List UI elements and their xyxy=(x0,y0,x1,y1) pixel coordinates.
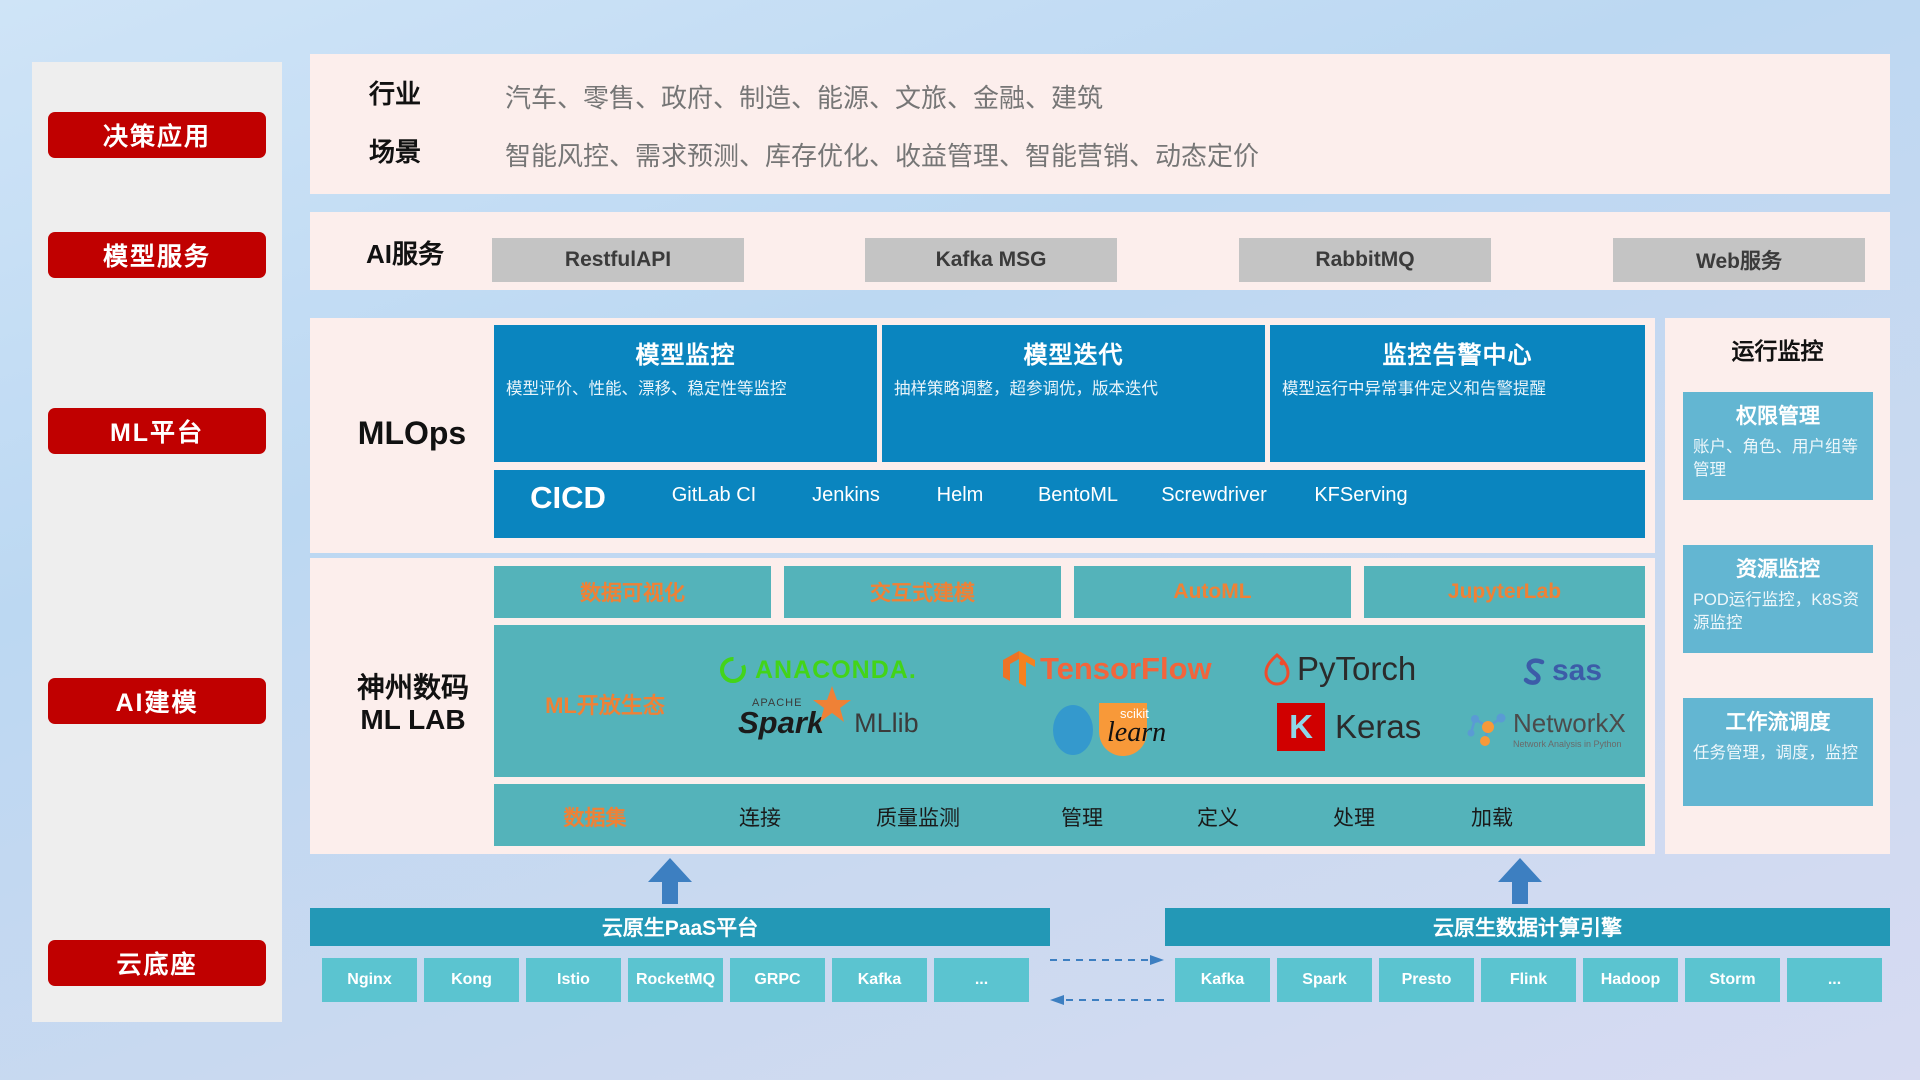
paas-chip-kafka[interactable]: Kafka xyxy=(832,958,927,1002)
bottom-dashed-connectors xyxy=(1050,950,1165,1010)
spark-apache-text: APACHE xyxy=(752,697,802,709)
industry-label: 行业 xyxy=(330,80,460,110)
paas-chip-more[interactable]: ... xyxy=(934,958,1029,1002)
industry-value: 汽车、零售、政府、制造、能源、文旅、金融、建筑 xyxy=(505,78,1103,115)
cicd-item-jenkins[interactable]: Jenkins xyxy=(801,484,891,507)
paas-chip-grpc[interactable]: GRPC xyxy=(730,958,825,1002)
sas-mark xyxy=(1518,655,1550,687)
ml-lab-label-line2: ML LAB xyxy=(360,704,465,735)
scenario-label: 场景 xyxy=(330,138,460,168)
sas-logo: sas xyxy=(1518,654,1602,688)
run-monitor-title: 运行监控 xyxy=(1665,332,1890,366)
anaconda-logo: ANACONDA. xyxy=(718,655,917,685)
engine-up-arrow-icon xyxy=(1490,858,1550,904)
tensorflow-logo: TensorFlow xyxy=(1002,650,1212,688)
stage-badge-cloud-base[interactable]: 云底座 xyxy=(48,940,266,986)
run-monitor-box-desc: 账户、角色、用户组等管理 xyxy=(1683,430,1873,482)
networkx-logo-subtext: Network Analysis in Python xyxy=(1513,739,1626,749)
run-monitor-box-resource[interactable]: 资源监控 POD运行监控，K8S资源监控 xyxy=(1683,545,1873,653)
mllib-logo-text: MLlib xyxy=(854,708,919,739)
pytorch-logo: PyTorch xyxy=(1262,650,1416,688)
scenario-value: 智能风控、需求预测、库存优化、收益管理、智能营销、动态定价 xyxy=(505,136,1259,173)
stage-badge-model-service[interactable]: 模型服务 xyxy=(48,232,266,278)
run-monitor-box-title: 工作流调度 xyxy=(1683,698,1873,736)
paas-chip-nginx[interactable]: Nginx xyxy=(322,958,417,1002)
ai-service-label: AI服务 xyxy=(330,240,480,270)
ml-ecosystem-label: ML开放生态 xyxy=(510,688,700,720)
mlops-card-title: 模型监控 xyxy=(494,325,877,370)
engine-chip-hadoop[interactable]: Hadoop xyxy=(1583,958,1678,1002)
keras-logo: K Keras xyxy=(1277,703,1421,751)
tensorflow-logo-text: TensorFlow xyxy=(1040,651,1212,687)
cicd-strip[interactable]: CICD GitLab CI Jenkins Helm BentoML Scre… xyxy=(494,470,1645,538)
mlops-card-title: 模型迭代 xyxy=(882,325,1265,370)
tab-interactive-modeling[interactable]: 交互式建模 xyxy=(784,566,1061,618)
ai-service-item-restfulapi[interactable]: RestfulAPI xyxy=(492,238,744,282)
ml-lab-label-line1: 神州数码 xyxy=(357,672,469,703)
spark-mllib-logo: APACHE Spark MLlib xyxy=(738,705,919,741)
stage-badge-decision-app[interactable]: 决策应用 xyxy=(48,112,266,158)
mlops-card-desc: 模型评价、性能、漂移、稳定性等监控 xyxy=(494,370,877,402)
run-monitor-box-workflow[interactable]: 工作流调度 任务管理，调度，监控 xyxy=(1683,698,1873,806)
tab-automl[interactable]: AutoML xyxy=(1074,566,1351,618)
mlops-card-desc: 抽样策略调整，超参调优，版本迭代 xyxy=(882,370,1265,402)
dataset-item-define[interactable]: 定义 xyxy=(1158,802,1278,832)
engine-chip-spark[interactable]: Spark xyxy=(1277,958,1372,1002)
paas-chip-kong[interactable]: Kong xyxy=(424,958,519,1002)
ai-service-item-kafka-msg[interactable]: Kafka MSG xyxy=(865,238,1117,282)
ai-service-item-rabbitmq[interactable]: RabbitMQ xyxy=(1239,238,1491,282)
engine-chip-kafka[interactable]: Kafka xyxy=(1175,958,1270,1002)
dataset-label: 数据集 xyxy=(510,802,680,832)
tab-label: JupyterLab xyxy=(1364,566,1645,618)
tab-jupyterlab[interactable]: JupyterLab xyxy=(1364,566,1645,618)
networkx-logo-text: NetworkX xyxy=(1513,708,1626,739)
cicd-title: CICD xyxy=(508,480,628,516)
cicd-item-gitlab-ci[interactable]: GitLab CI xyxy=(644,484,784,507)
engine-chip-storm[interactable]: Storm xyxy=(1685,958,1780,1002)
mlops-label: MLOps xyxy=(322,415,502,452)
sas-logo-text: sas xyxy=(1552,654,1602,688)
engine-bar[interactable]: 云原生数据计算引擎 xyxy=(1165,908,1890,946)
run-monitor-box-permission[interactable]: 权限管理 账户、角色、用户组等管理 xyxy=(1683,392,1873,500)
cicd-item-screwdriver[interactable]: Screwdriver xyxy=(1154,484,1274,507)
anaconda-mark xyxy=(718,655,748,685)
mlops-card-model-iteration[interactable]: 模型迭代 抽样策略调整，超参调优，版本迭代 xyxy=(882,325,1265,462)
anaconda-logo-text: ANACONDA. xyxy=(755,656,917,685)
pytorch-mark xyxy=(1262,652,1292,686)
stage-badge-ml-platform[interactable]: ML平台 xyxy=(48,408,266,454)
left-rail xyxy=(32,62,282,1022)
pytorch-logo-text: PyTorch xyxy=(1297,650,1416,688)
tab-label: 交互式建模 xyxy=(784,566,1061,618)
run-monitor-box-desc: POD运行监控，K8S资源监控 xyxy=(1683,583,1873,635)
paas-chip-rocketmq[interactable]: RocketMQ xyxy=(628,958,723,1002)
engine-chip-flink[interactable]: Flink xyxy=(1481,958,1576,1002)
keras-mark: K xyxy=(1277,703,1325,751)
engine-chip-more[interactable]: ... xyxy=(1787,958,1882,1002)
learn-word-text: learn xyxy=(1107,717,1166,749)
keras-mark-letter: K xyxy=(1289,708,1313,746)
cicd-item-bentoml[interactable]: BentoML xyxy=(1028,484,1128,507)
cicd-item-helm[interactable]: Helm xyxy=(915,484,1005,507)
spark-star-mark xyxy=(810,683,854,727)
mlops-card-alert-center[interactable]: 监控告警中心 模型运行中异常事件定义和告警提醒 xyxy=(1270,325,1645,462)
tab-label: AutoML xyxy=(1074,566,1351,618)
mlops-card-title: 监控告警中心 xyxy=(1270,325,1645,370)
dataset-item-manage[interactable]: 管理 xyxy=(1022,802,1142,832)
cicd-item-kfserving[interactable]: KFServing xyxy=(1306,484,1416,507)
dataset-item-load[interactable]: 加载 xyxy=(1432,802,1552,832)
keras-logo-text: Keras xyxy=(1335,708,1421,746)
stage-badge-ai-modeling[interactable]: AI建模 xyxy=(48,678,266,724)
tab-data-visualization[interactable]: 数据可视化 xyxy=(494,566,771,618)
ai-service-item-web-service[interactable]: Web服务 xyxy=(1613,238,1865,282)
dataset-item-connect[interactable]: 连接 xyxy=(700,802,820,832)
run-monitor-box-desc: 任务管理，调度，监控 xyxy=(1683,736,1873,765)
tensorflow-mark xyxy=(1002,650,1036,688)
scikit-learn-logo: scikit learn xyxy=(1047,700,1155,758)
industry-scenario-band xyxy=(310,54,1890,194)
mlops-card-model-monitoring[interactable]: 模型监控 模型评价、性能、漂移、稳定性等监控 xyxy=(494,325,877,462)
architecture-diagram: 决策应用 模型服务 ML平台 AI建模 云底座 行业 汽车、零售、政府、制造、能… xyxy=(0,0,1920,1080)
run-monitor-box-title: 资源监控 xyxy=(1683,545,1873,583)
networkx-mark xyxy=(1463,705,1509,751)
networkx-logo: NetworkX Network Analysis in Python xyxy=(1463,705,1626,751)
paas-bar[interactable]: 云原生PaaS平台 xyxy=(310,908,1050,946)
tab-label: 数据可视化 xyxy=(494,566,771,618)
paas-up-arrow-icon xyxy=(640,858,700,904)
dataset-item-quality[interactable]: 质量监测 xyxy=(838,802,998,832)
dataset-item-process[interactable]: 处理 xyxy=(1294,802,1414,832)
run-monitor-box-title: 权限管理 xyxy=(1683,392,1873,430)
mlops-card-desc: 模型运行中异常事件定义和告警提醒 xyxy=(1270,370,1645,402)
paas-chip-istio[interactable]: Istio xyxy=(526,958,621,1002)
engine-chip-presto[interactable]: Presto xyxy=(1379,958,1474,1002)
ml-lab-label: 神州数码 ML LAB xyxy=(318,672,508,736)
